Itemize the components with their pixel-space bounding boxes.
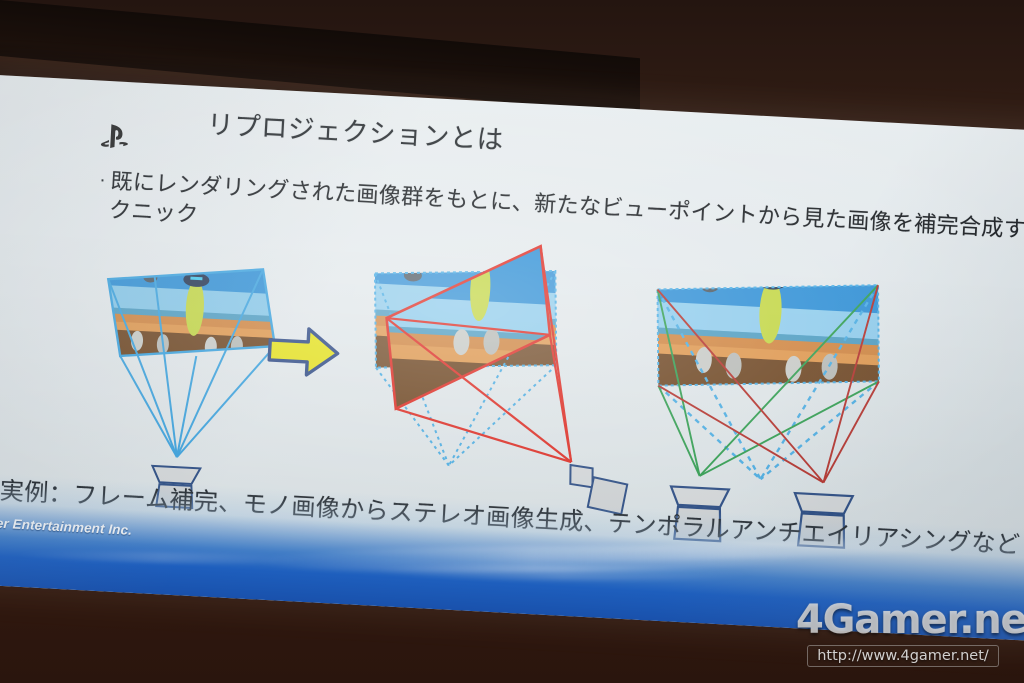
scene-image-3 xyxy=(631,244,919,419)
bullet-marker: · xyxy=(94,166,111,191)
footer-copyright: omputer Entertainment Inc. xyxy=(0,513,132,537)
watermark-url: http://www.4gamer.net/ xyxy=(807,645,999,667)
footer-wave xyxy=(12,550,312,565)
watermark-logo: 4Gamer.net xyxy=(796,600,1010,640)
diagram-new-viewpoint xyxy=(340,224,646,539)
projection-screen: リプロジェクションとは · 既にレンダリングされた画像群をもとに、新たなビューポ… xyxy=(0,74,1024,642)
scene-image-2-new xyxy=(345,224,645,439)
watermark: 4Gamer.net http://www.4gamer.net/ xyxy=(796,600,1010,667)
presentation-slide: リプロジェクションとは · 既にレンダリングされた画像群をもとに、新たなビューポ… xyxy=(0,74,1024,642)
transform-arrow xyxy=(262,318,345,386)
